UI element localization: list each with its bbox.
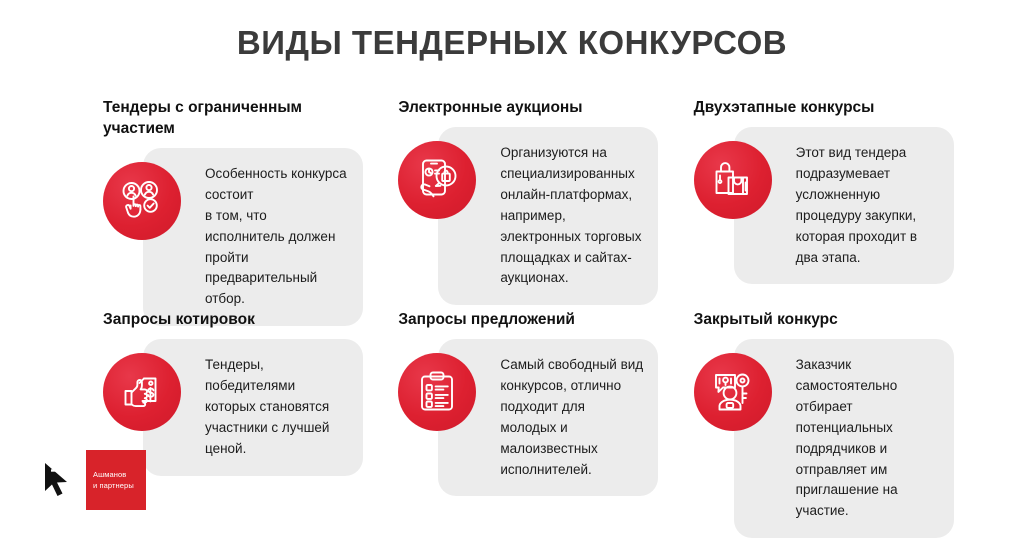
card-text-panel: Этот вид тендера подразумевает усложненн… (734, 127, 954, 285)
card-tenders-limited: Тендеры с ограниченным участием (98, 98, 393, 310)
card-two-stage: Двухэтапные конкурсы Этот вид (689, 98, 984, 310)
card-closed-competition: Закрытый конкурс (689, 310, 984, 470)
card-grid: Тендеры с ограниченным участием (98, 98, 984, 470)
card-description: Тендеры, победителями которых становятся… (205, 355, 349, 460)
card-row-top: Тендеры с ограниченным участием (98, 98, 984, 310)
card-body-wrap: Особенность конкурса состоит в том, что … (103, 148, 363, 326)
clipboard-checklist-icon (398, 353, 476, 431)
card-body-wrap: Самый свободный вид конкурсов, отлично п… (398, 339, 658, 497)
card-text-panel: Организуются на специализированных онлай… (438, 127, 658, 305)
card-body-wrap: Заказчик самостоятельно отбирает потенци… (694, 339, 954, 538)
shopping-bags-icon (694, 141, 772, 219)
card-text-panel: Самый свободный вид конкурсов, отлично п… (438, 339, 658, 497)
page-title: ВИДЫ ТЕНДЕРНЫХ КОНКУРСОВ (0, 24, 1024, 62)
cursor-arrow-icon (42, 461, 72, 499)
card-text-panel: Заказчик самостоятельно отбирает потенци… (734, 339, 954, 538)
card-proposal-requests: Запросы предложений Самый своб (393, 310, 688, 470)
card-heading: Двухэтапные конкурсы (694, 98, 944, 119)
card-heading: Тендеры с ограниченным участием (103, 98, 353, 140)
card-quotation-requests: Запросы котировок (98, 310, 393, 470)
card-text-panel: Особенность конкурса состоит в том, что … (143, 148, 363, 326)
card-body-wrap: Организуются на специализированных онлай… (398, 127, 658, 305)
card-description: Организуются на специализированных онлай… (500, 143, 644, 289)
card-heading: Закрытый конкурс (694, 310, 944, 331)
card-description: Этот вид тендера подразумевает усложненн… (796, 143, 940, 269)
logo-line-2: и партнеры (93, 480, 146, 491)
card-heading: Электронные аукционы (398, 98, 648, 119)
users-select-icon (103, 162, 181, 240)
card-description: Заказчик самостоятельно отбирает потенци… (796, 355, 940, 522)
mobile-shopping-icon (398, 141, 476, 219)
card-description: Особенность конкурса состоит в том, что … (205, 164, 349, 310)
card-electronic-auctions: Электронные аукционы (393, 98, 688, 310)
person-key-icon (694, 353, 772, 431)
card-description: Самый свободный вид конкурсов, отлично п… (500, 355, 644, 481)
logo-box: Ашманов и партнеры (86, 450, 146, 510)
card-heading: Запросы предложений (398, 310, 648, 331)
card-row-bottom: Запросы котировок (98, 310, 984, 470)
logo-line-1: Ашманов (93, 469, 146, 480)
card-heading: Запросы котировок (103, 310, 353, 331)
thumbs-up-price-tag-icon (103, 353, 181, 431)
card-body-wrap: Этот вид тендера подразумевает усложненн… (694, 127, 954, 285)
brand-logo[interactable]: Ашманов и партнеры (42, 450, 146, 510)
